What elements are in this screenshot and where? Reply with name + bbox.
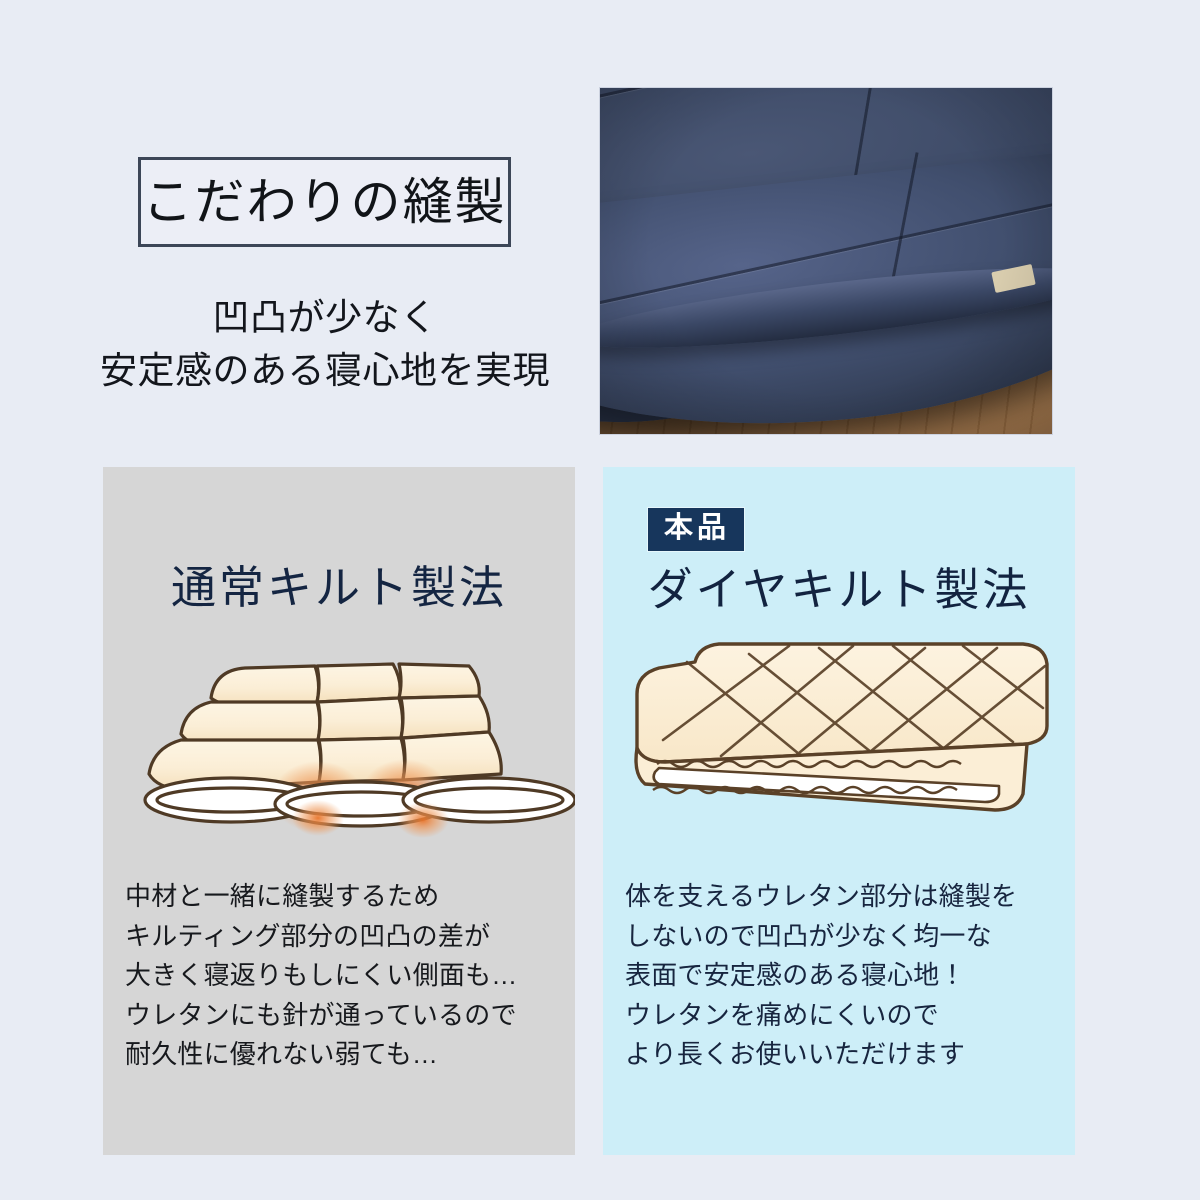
product-photo-futon-mattress bbox=[600, 88, 1052, 434]
status-badge-this-product: 本品 bbox=[648, 508, 744, 551]
diamond-quilt-flat-mattress-illustration bbox=[603, 622, 1075, 862]
body-line: ウレタンを痛めにくいので bbox=[625, 996, 1017, 1036]
panel-right-heading: ダイヤキルト製法 bbox=[603, 567, 1075, 612]
panel-left-body: 中材と一緒に縫製するため キルティング部分の凹凸の差が 大きく寝返りもしにくい側… bbox=[125, 877, 517, 1075]
body-line: 大きく寝返りもしにくい側面も… bbox=[125, 956, 517, 996]
quilt-seam bbox=[600, 88, 1052, 154]
panel-right-body: 体を支えるウレタン部分は縫製を しないので凹凸が少なく均一な 表面で安定感のある… bbox=[625, 877, 1017, 1075]
panel-diamond-quilt: 本品 ダイヤキルト製法 bbox=[603, 467, 1075, 1155]
subtitle-line-1: 凹凸が少なく bbox=[60, 292, 590, 345]
quilt-cell bbox=[317, 664, 400, 702]
panel-ordinary-quilt: 通常キルト製法 bbox=[103, 467, 575, 1155]
body-line: より長くお使いいただけます bbox=[625, 1035, 1017, 1075]
subtitle-line-2: 安定感のある寝心地を実現 bbox=[60, 345, 590, 398]
body-line: 表面で安定感のある寝心地！ bbox=[625, 956, 1017, 996]
subtitle-block: 凹凸が少なく 安定感のある寝心地を実現 bbox=[60, 292, 590, 397]
body-line: 中材と一緒に縫製するため bbox=[125, 877, 517, 917]
infographic-canvas: こだわりの縫製 凹凸が少なく 安定感のある寝心地を実現 通常キルト製法 bbox=[0, 0, 1200, 1200]
mattress-top-surface bbox=[637, 644, 1047, 762]
quilt-cell bbox=[399, 664, 479, 698]
body-line: 体を支えるウレタン部分は縫製を bbox=[625, 877, 1017, 917]
puffy-tube-quilt-illustration bbox=[103, 622, 575, 862]
body-line: しないので凹凸が少なく均一な bbox=[625, 917, 1017, 957]
section-title-box: こだわりの縫製 bbox=[138, 157, 511, 247]
pressure-glow-spot bbox=[292, 800, 344, 836]
page-title: こだわりの縫製 bbox=[143, 177, 507, 227]
pressure-glow-spot bbox=[397, 802, 449, 838]
quilt-cell bbox=[318, 698, 403, 740]
body-line: 耐久性に優れない弱ても… bbox=[125, 1035, 517, 1075]
body-line: キルティング部分の凹凸の差が bbox=[125, 917, 517, 957]
body-line: ウレタンにも針が通っているので bbox=[125, 996, 517, 1036]
quilt-cell bbox=[211, 666, 319, 706]
panel-left-heading: 通常キルト製法 bbox=[103, 565, 575, 610]
